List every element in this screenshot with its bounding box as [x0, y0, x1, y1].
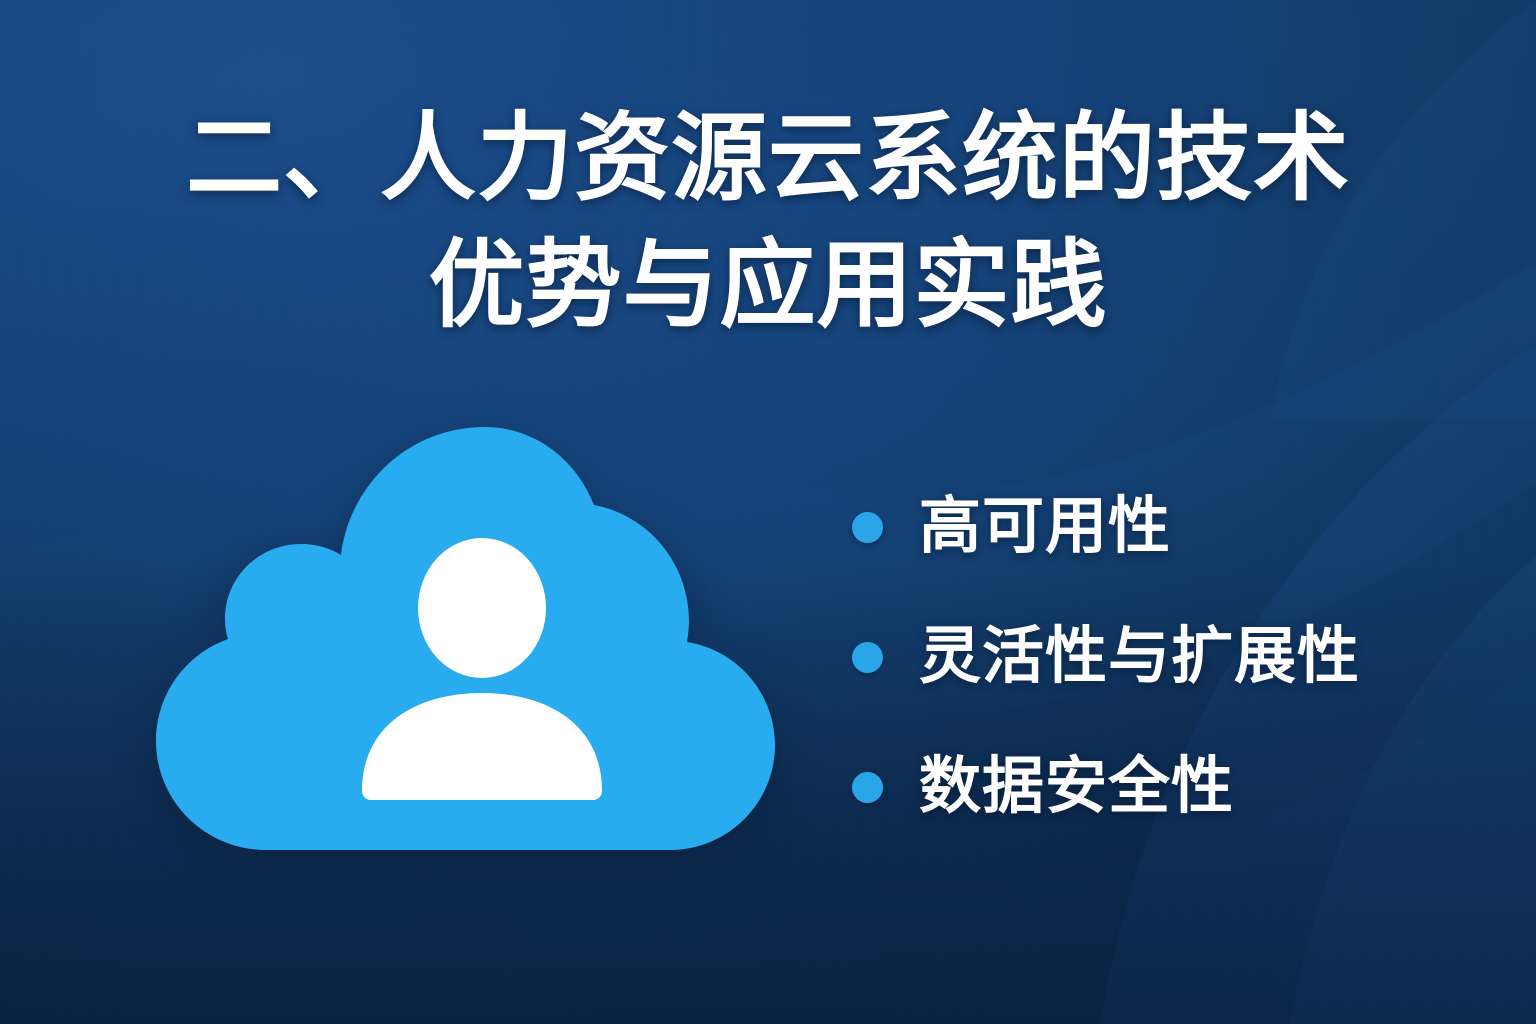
feature-bullet-list: 高可用性 灵活性与扩展性 数据安全性 — [852, 462, 1472, 852]
slide-canvas: 二、人力资源云系统的技术 优势与应用实践 高可用性 灵活性与扩展性 数据安全性 — [0, 0, 1536, 1024]
cloud-user-icon — [140, 405, 800, 885]
person-head — [418, 538, 546, 678]
bullet-dot-icon — [852, 512, 883, 543]
bullet-dot-icon — [852, 642, 883, 673]
list-item[interactable]: 高可用性 — [852, 462, 1472, 592]
bullet-label: 高可用性 — [919, 496, 1171, 558]
list-item[interactable]: 数据安全性 — [852, 722, 1472, 852]
slide-title: 二、人力资源云系统的技术 优势与应用实践 — [0, 96, 1536, 349]
bullet-label: 灵活性与扩展性 — [919, 626, 1360, 688]
bullet-dot-icon — [852, 772, 883, 803]
bullet-label: 数据安全性 — [919, 756, 1234, 818]
list-item[interactable]: 灵活性与扩展性 — [852, 592, 1472, 722]
title-line-2: 优势与应用实践 — [0, 223, 1536, 350]
title-line-1: 二、人力资源云系统的技术 — [0, 96, 1536, 223]
